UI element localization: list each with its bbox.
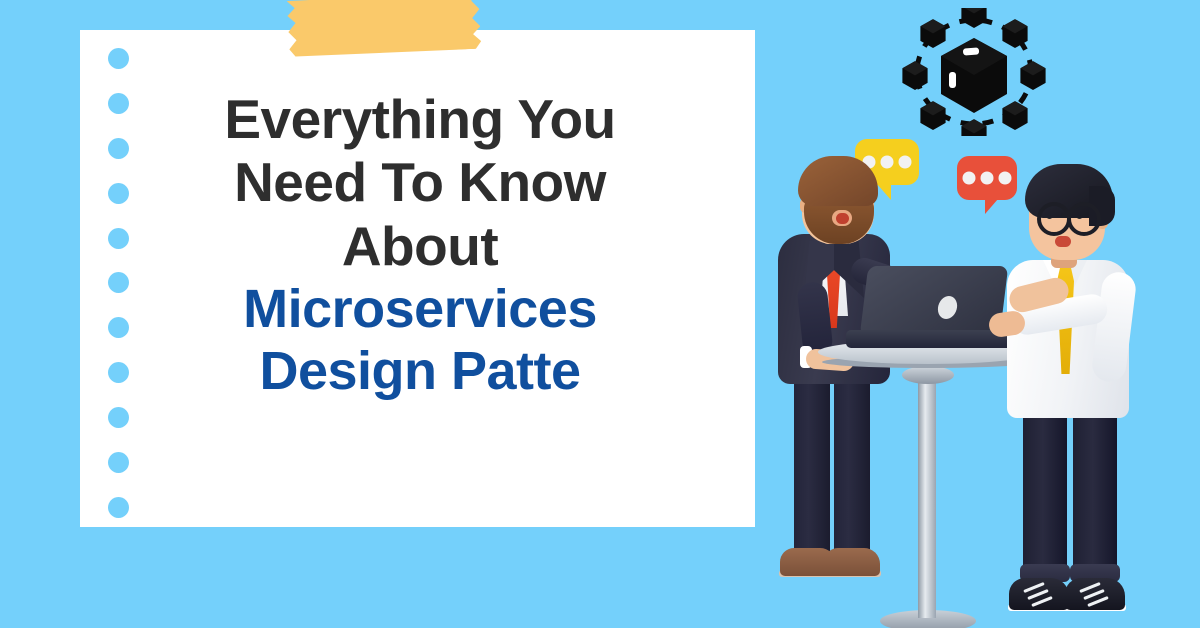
punch-hole: [108, 407, 129, 428]
leg-left: [1023, 405, 1067, 580]
punch-hole: [108, 228, 129, 249]
table-collar: [902, 366, 954, 384]
glasses-lens-right: [1067, 202, 1101, 236]
page-title: Everything You Need To Know About Micros…: [150, 88, 690, 402]
table-pole: [918, 378, 936, 618]
hair: [798, 156, 878, 206]
punch-hole: [108, 138, 129, 159]
mouth: [1055, 236, 1071, 247]
illustration-group: [740, 0, 1200, 628]
punch-hole: [108, 362, 129, 383]
glasses-bridge: [1061, 213, 1071, 217]
punch-hole: [108, 48, 129, 69]
headline-line-1: Everything You: [150, 88, 690, 151]
mouth: [836, 213, 849, 224]
punch-hole: [108, 317, 129, 338]
punch-hole: [108, 497, 129, 518]
punch-hole: [108, 452, 129, 473]
glasses-lens-left: [1037, 202, 1071, 236]
headline-line-3: About: [150, 215, 690, 278]
headline-line-4: Microservices: [150, 278, 690, 340]
punch-hole: [108, 183, 129, 204]
leg-right: [1073, 405, 1117, 580]
headline-line-5: Design Patte: [150, 340, 690, 402]
punch-hole: [108, 272, 129, 293]
punch-hole-column: [107, 48, 129, 518]
headline-line-2: Need To Know: [150, 151, 690, 214]
banner-canvas: Everything You Need To Know About Micros…: [0, 0, 1200, 628]
character-glasses-listener: [985, 140, 1195, 628]
punch-hole: [108, 93, 129, 114]
